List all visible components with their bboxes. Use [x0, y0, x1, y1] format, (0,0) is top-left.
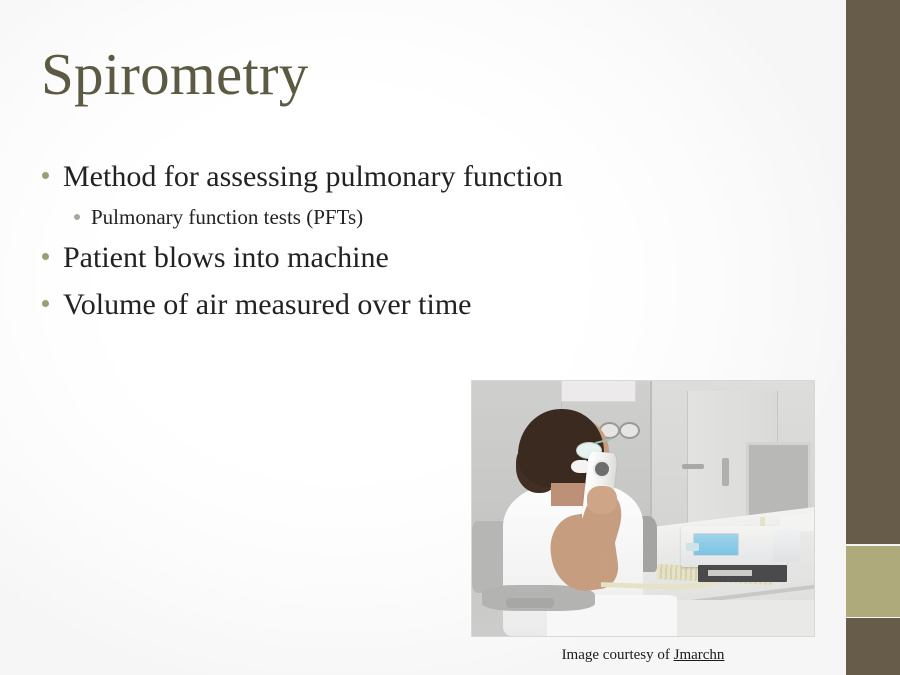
scene-machine-side-unit: [773, 529, 800, 562]
list-item: Pulmonary function tests (PFTs): [74, 203, 782, 231]
scene-person-hand: [587, 486, 618, 514]
slide-photo: [471, 380, 815, 637]
slide-decoration-sidebar: [846, 0, 900, 675]
scene-ceiling-panel: [561, 381, 636, 402]
photo-caption: Image courtesy of Jmarchn: [471, 647, 815, 664]
list-item: Method for assessing pulmonary function: [42, 156, 782, 199]
presentation-slide: Spirometry Method for assessing pulmonar…: [0, 0, 900, 675]
list-item: Volume of air measured over time: [42, 284, 782, 327]
scene-machine-display: [693, 533, 739, 557]
sidebar-bar-khaki: [846, 546, 900, 617]
photo-scene: [472, 381, 814, 636]
bullet-dot-icon: [42, 300, 49, 307]
sidebar-bar-dark-upper: [846, 0, 900, 545]
scene-chair-armrest: [506, 598, 554, 608]
slide-title: Spirometry: [41, 44, 308, 106]
list-item: Patient blows into machine: [42, 237, 782, 280]
sidebar-bar-dark-lower: [846, 618, 900, 675]
scene-desk-front-panel: [660, 600, 814, 636]
scene-machine-button: [686, 543, 700, 551]
scene-person-neck: [551, 483, 585, 506]
scene-spirometer-mouthpiece: [571, 460, 588, 473]
scene-machine-printer-slot: [708, 570, 752, 576]
slide-body-list: Method for assessing pulmonary function …: [42, 156, 782, 330]
scene-door-plate: [722, 458, 729, 486]
list-item-label: Method for assessing pulmonary function: [63, 156, 563, 199]
list-item-label: Volume of air measured over time: [63, 284, 472, 327]
scene-wall-fixture-3: [619, 422, 640, 439]
photo-caption-attribution-link[interactable]: Jmarchn: [674, 647, 725, 663]
scene-door-handle: [682, 464, 704, 469]
bullet-dot-icon: [74, 214, 80, 220]
bullet-dot-icon: [42, 172, 49, 179]
photo-caption-prefix: Image courtesy of: [562, 647, 674, 663]
bullet-dot-icon: [42, 253, 49, 260]
list-item-label: Pulmonary function tests (PFTs): [91, 203, 363, 231]
list-item-label: Patient blows into machine: [63, 237, 389, 280]
